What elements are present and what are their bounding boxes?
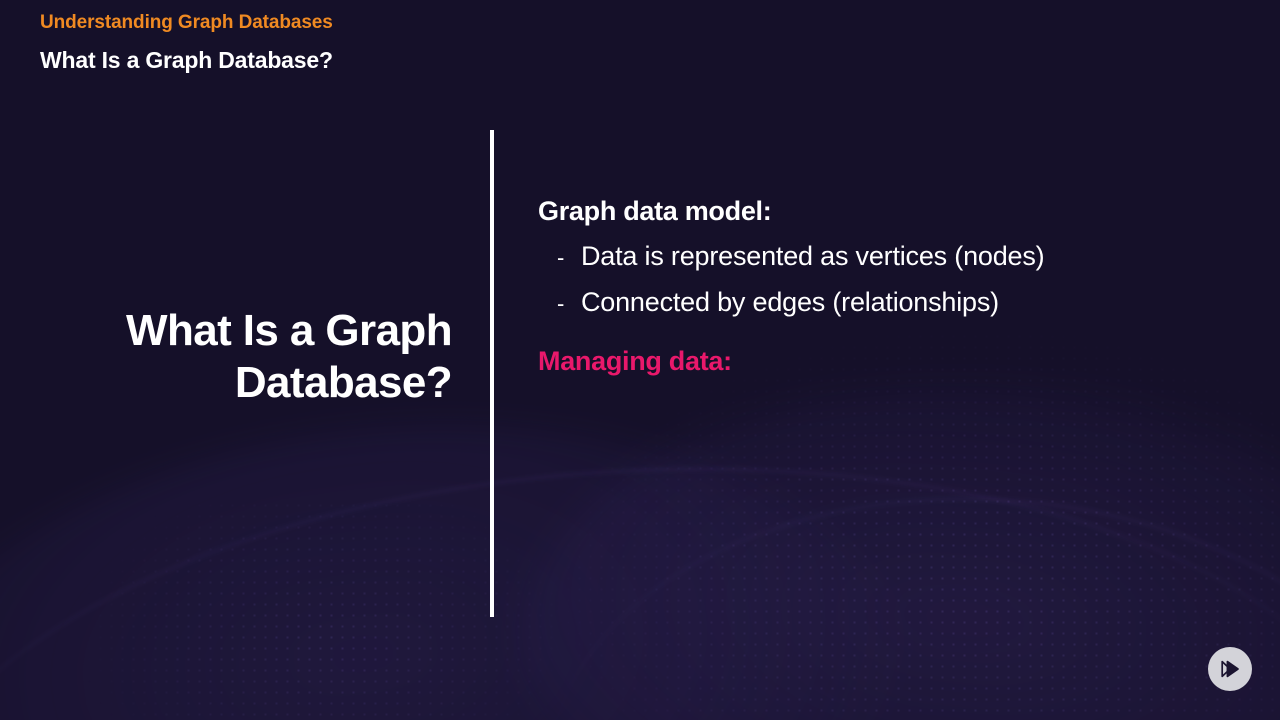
- lesson-subtitle: What Is a Graph Database?: [40, 45, 333, 75]
- course-title-eyebrow: Understanding Graph Databases: [40, 10, 333, 36]
- vertical-divider: [490, 130, 494, 617]
- content-section-graph-data-model: Graph data model: - Data is represented …: [538, 192, 1238, 326]
- bullet-dash-icon: -: [557, 282, 581, 326]
- slide-canvas: Understanding Graph Databases What Is a …: [0, 0, 1280, 720]
- content-section-managing-data: Managing data:: [538, 342, 1238, 380]
- background-halftone-dots-left: [40, 500, 560, 720]
- list-item-label: Connected by edges (relationships): [581, 280, 999, 324]
- play-double-chevron-logo[interactable]: [1208, 647, 1252, 691]
- background-halftone-dots-right: [420, 320, 1280, 720]
- section-heading: Graph data model:: [538, 192, 1238, 230]
- section-heading: Managing data:: [538, 342, 1238, 380]
- slide-header: Understanding Graph Databases What Is a …: [40, 10, 333, 75]
- background-wave-line-left: [0, 431, 1280, 720]
- section-spacer: [538, 326, 1238, 342]
- list-item: - Data is represented as vertices (nodes…: [538, 234, 1238, 280]
- content-column: Graph data model: - Data is represented …: [538, 192, 1238, 380]
- page-title: What Is a Graph Database?: [60, 305, 452, 409]
- background-wave-right: [496, 340, 1280, 720]
- bullet-dash-icon: -: [557, 236, 581, 280]
- background-wave-left: [0, 365, 950, 720]
- list-item: - Connected by edges (relationships): [538, 280, 1238, 326]
- list-item-label: Data is represented as vertices (nodes): [581, 234, 1044, 278]
- background-wave-line-right: [549, 461, 1280, 720]
- bullet-list: - Data is represented as vertices (nodes…: [538, 234, 1238, 326]
